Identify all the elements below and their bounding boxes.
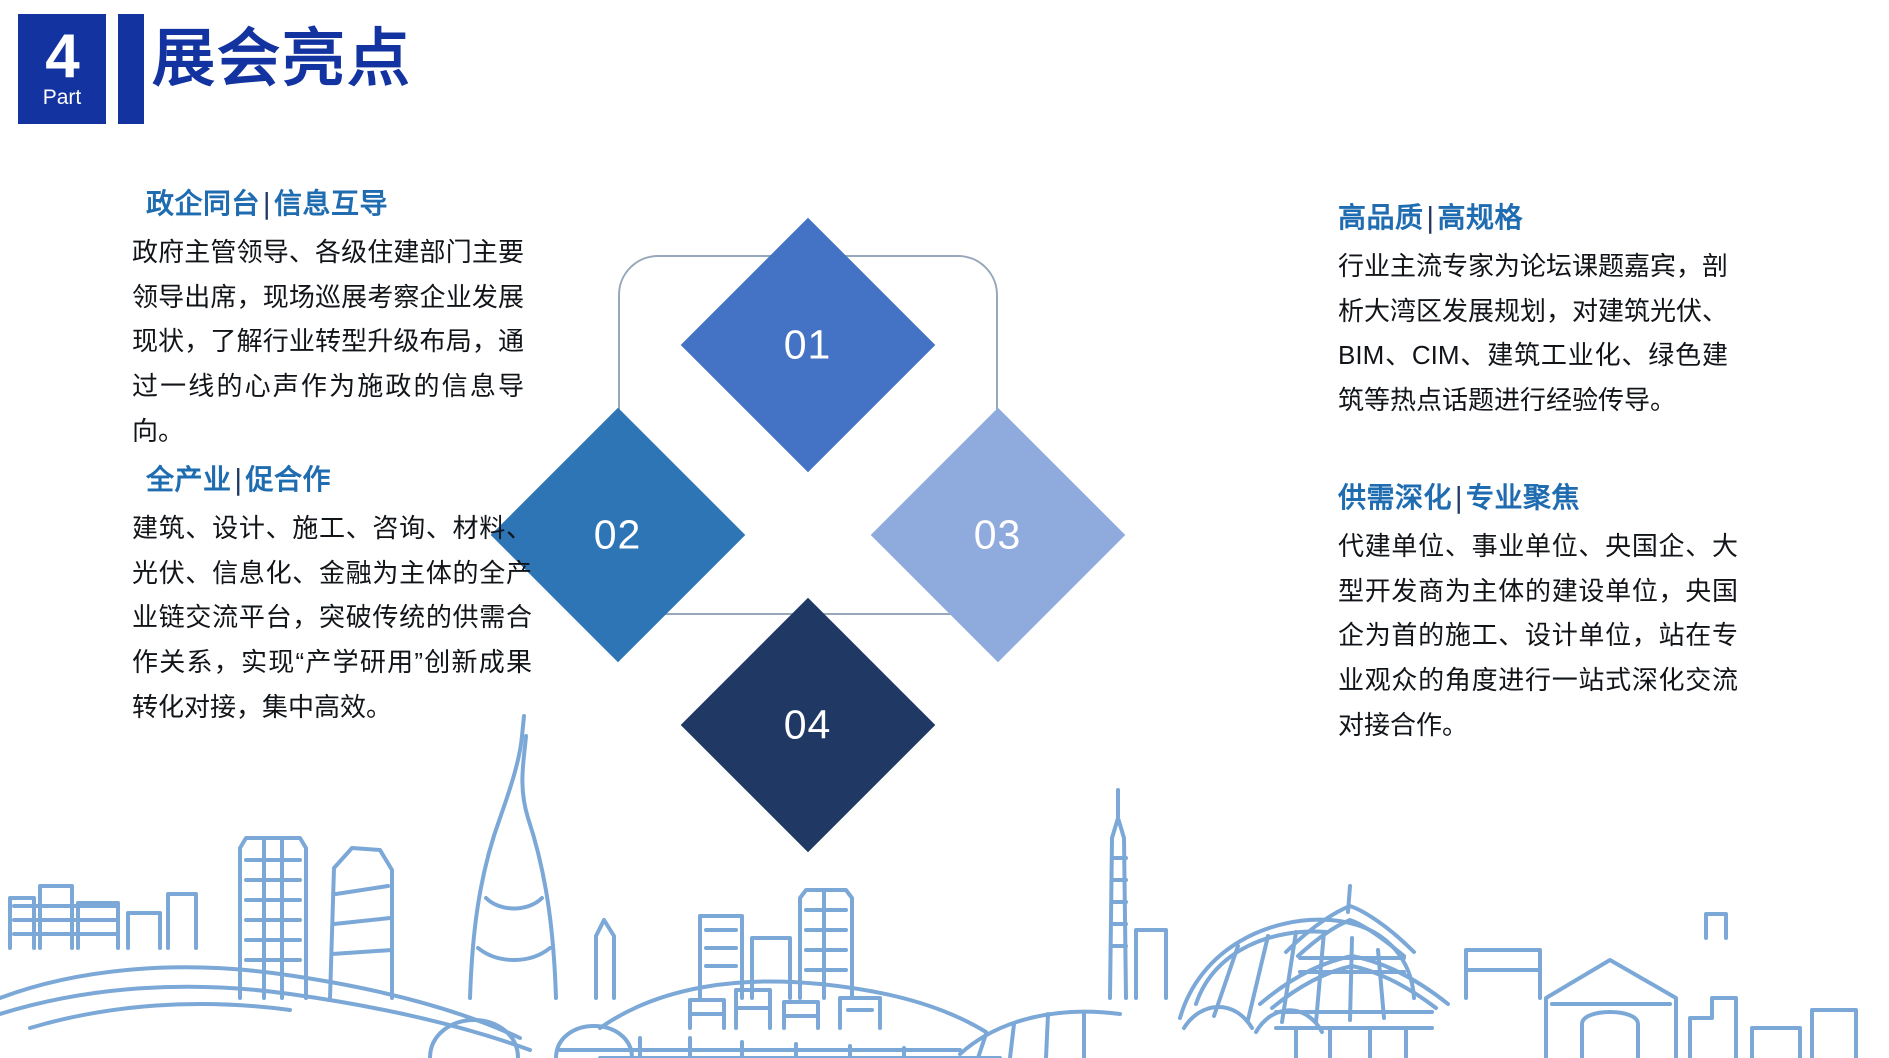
part-number-badge: 4 Part	[18, 14, 106, 124]
highlight-title-sub: 信息互导	[274, 187, 388, 220]
part-label: Part	[43, 86, 82, 109]
part-number: 4	[45, 28, 78, 85]
diamond-node-04[interactable]: 04	[681, 598, 936, 853]
highlight-title-gongxu: 供需深化|专业聚焦	[1338, 476, 1738, 516]
diamond-node-04-label: 04	[784, 701, 832, 748]
highlight-title-zhengqi: 政企同台|信息互导	[146, 182, 524, 222]
highlight-title-main: 全产业	[146, 463, 232, 496]
highlight-title-sub: 促合作	[245, 463, 331, 496]
highlight-title-main: 高品质	[1338, 201, 1424, 234]
diamond-node-02-label: 02	[594, 511, 642, 558]
slide-header: 4 Part 展会亮点	[0, 0, 1889, 140]
highlight-block-zhengqi: 政企同台|信息互导 政府主管领导、各级住建部门主要领导出席，现场巡展考察企业发展…	[132, 182, 524, 454]
highlight-body-gaopinzhi: 行业主流专家为论坛课题嘉宾，剖析大湾区发展规划，对建筑光伏、BIM、CIM、建筑…	[1338, 244, 1728, 423]
highlight-title-main: 政企同台	[146, 187, 260, 220]
highlight-title-sub: 高规格	[1437, 201, 1523, 234]
city-skyline-outline	[0, 698, 1889, 1058]
diamond-node-03-label: 03	[974, 511, 1022, 558]
header-accent-bar	[118, 14, 144, 124]
title-separator: |	[260, 187, 274, 220]
page-title: 展会亮点	[152, 26, 412, 92]
highlight-body-gongxu: 代建单位、事业单位、央国企、大型开发商为主体的建设单位，央国企为首的施工、设计单…	[1338, 524, 1738, 748]
title-separator: |	[1424, 201, 1438, 234]
highlight-title-sub: 专业聚焦	[1466, 481, 1580, 514]
highlight-title-gaopinzhi: 高品质|高规格	[1338, 196, 1728, 236]
highlight-body-quanchanye: 建筑、设计、施工、咨询、材料、光伏、信息化、金融为主体的全产业链交流平台，突破传…	[132, 506, 532, 730]
highlight-body-zhengqi: 政府主管领导、各级住建部门主要领导出席，现场巡展考察企业发展现状，了解行业转型升…	[132, 230, 524, 454]
title-separator: |	[232, 463, 246, 496]
highlight-block-gongxu: 供需深化|专业聚焦 代建单位、事业单位、央国企、大型开发商为主体的建设单位，央国…	[1338, 476, 1738, 748]
diamond-diagram: 01 02 03 04	[600, 150, 1100, 680]
highlight-title-quanchanye: 全产业|促合作	[146, 458, 532, 498]
diamond-node-01-label: 01	[784, 321, 832, 368]
title-separator: |	[1452, 481, 1466, 514]
highlight-block-quanchanye: 全产业|促合作 建筑、设计、施工、咨询、材料、光伏、信息化、金融为主体的全产业链…	[132, 458, 532, 730]
highlight-block-gaopinzhi: 高品质|高规格 行业主流专家为论坛课题嘉宾，剖析大湾区发展规划，对建筑光伏、BI…	[1338, 196, 1728, 423]
highlight-title-main: 供需深化	[1338, 481, 1452, 514]
